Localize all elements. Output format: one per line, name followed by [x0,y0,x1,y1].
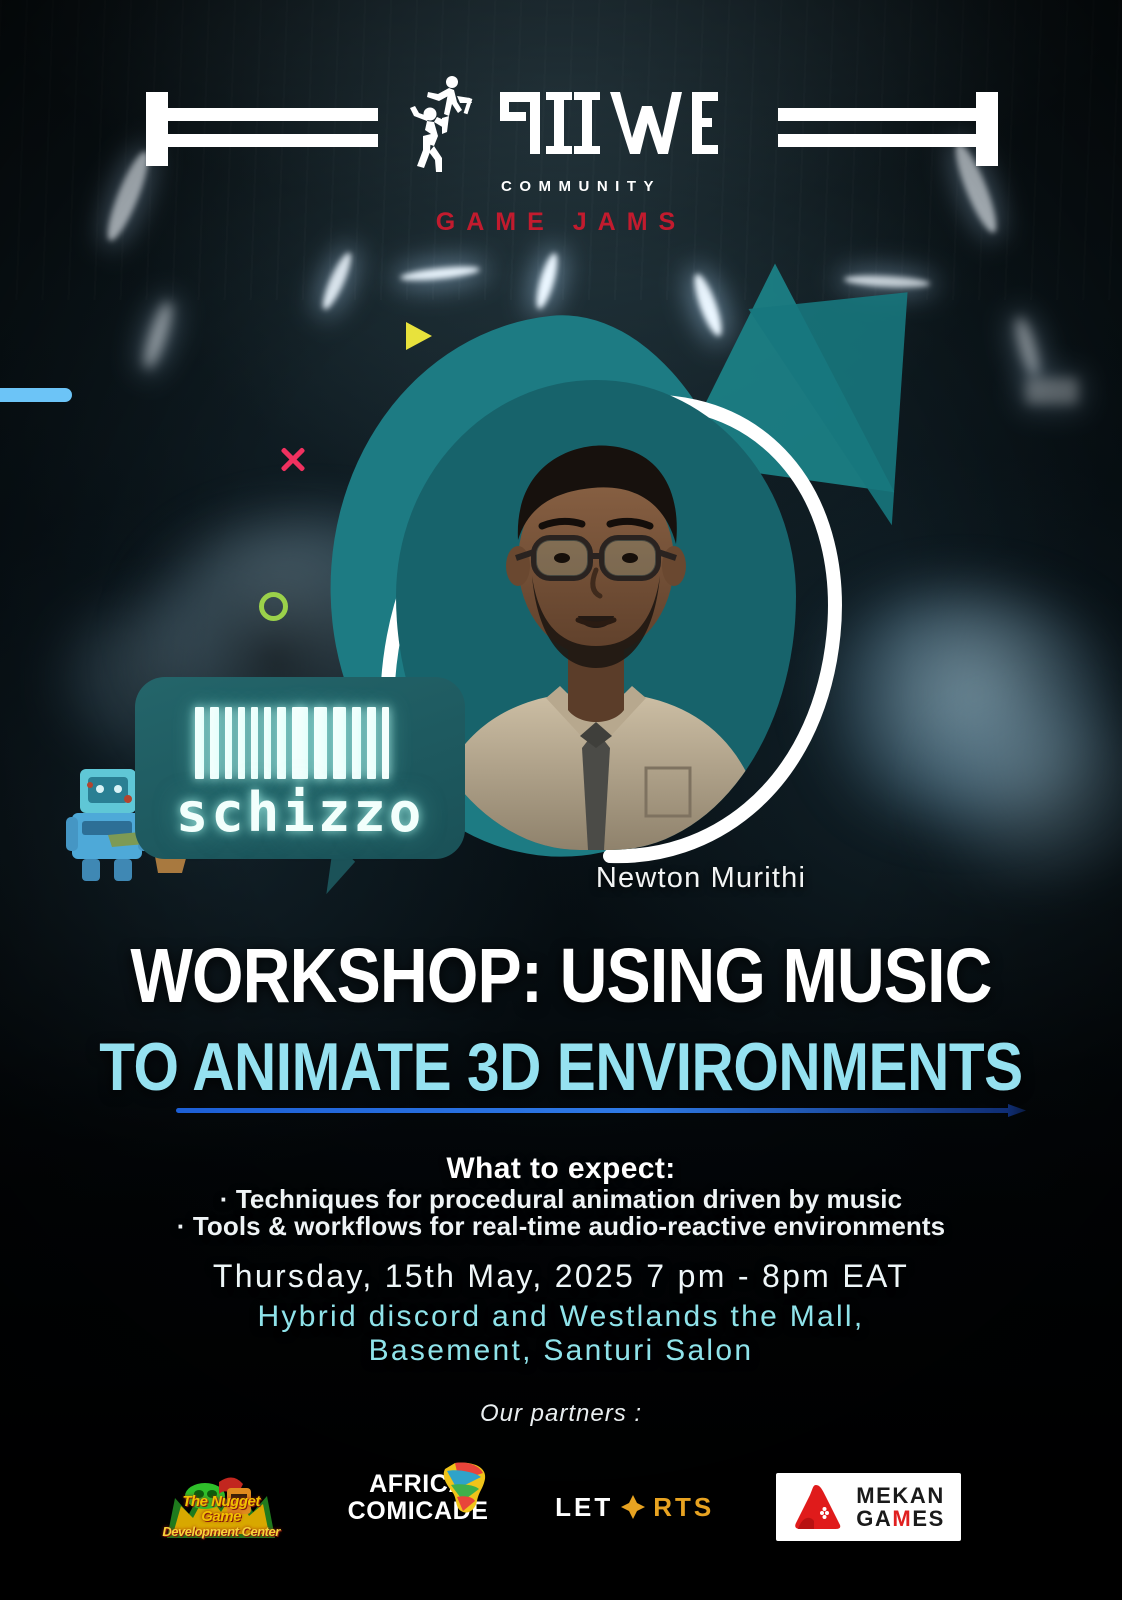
header-rule-left-cap [146,92,168,166]
event-venue-line2: Basement, Santuri Salon [0,1334,1122,1368]
logo-tagline: GAME JAMS [436,208,686,237]
circle-decor-icon [259,592,288,621]
partner-logo-africa-comicade[interactable]: AFRICA COMICADE [343,1471,493,1543]
speaker-name: Newton Murithi [0,862,1122,895]
event-poster: COMMUNITY GAME JAMS [0,0,1122,1600]
header-rule-left-bottom [168,134,378,147]
title-divider [176,1108,1012,1113]
nugget-logo-text: The Nugget Game Development Center [161,1494,281,1539]
poster-header: COMMUNITY GAME JAMS [0,72,1122,242]
diamond-icon [620,1494,646,1520]
schizzo-logo-bubble: schizzo [135,677,465,859]
mekan-games-text: MEKAN GAMES [856,1484,945,1530]
partner-logo-let-arts[interactable]: LET RTS [555,1492,714,1523]
blue-bar-decor [0,388,72,402]
page-title-line1: WORKSHOP: USING MUSIC [79,932,1044,1021]
page-title-line2: TO ANIMATE 3D ENVIRONMENTS [79,1028,1044,1106]
africa-map-icon [439,1461,491,1515]
x-decor-icon [278,444,308,474]
runners-icon [400,72,488,176]
header-rule-left-top [168,108,378,121]
let-arts-arts-text: RTS [653,1492,714,1523]
jiiwe-logo: COMMUNITY [391,72,731,195]
partners-label: Our partners : [0,1400,1122,1428]
mekan-triangle-icon [792,1483,844,1531]
event-venue-line1: Hybrid discord and Westlands the Mall, [0,1300,1122,1334]
logo-subtitle: COMMUNITY [391,178,731,195]
let-arts-let-text: LET [555,1492,613,1523]
header-rule-right-cap [976,92,998,166]
barcode-icon [195,707,389,779]
header-rule-right-bottom [778,134,986,147]
what-to-expect-bullet: · Tools & workflows for real-time audio-… [0,1211,1122,1242]
what-to-expect-heading: What to expect: [0,1152,1122,1186]
schizzo-wordmark: schizzo [135,781,465,844]
header-rule-right-top [778,108,986,121]
partner-logo-mekan-games[interactable]: MEKAN GAMES [776,1473,961,1541]
triangle-decor-icon [406,322,432,350]
partners-row: The Nugget Game Development Center AFRIC… [0,1452,1122,1562]
jiiwe-wordmark-icon [492,86,722,162]
partner-logo-nugget-game-development-center[interactable]: The Nugget Game Development Center [161,1468,281,1546]
event-datetime: Thursday, 15th May, 2025 7 pm - 8pm EAT [0,1258,1122,1295]
